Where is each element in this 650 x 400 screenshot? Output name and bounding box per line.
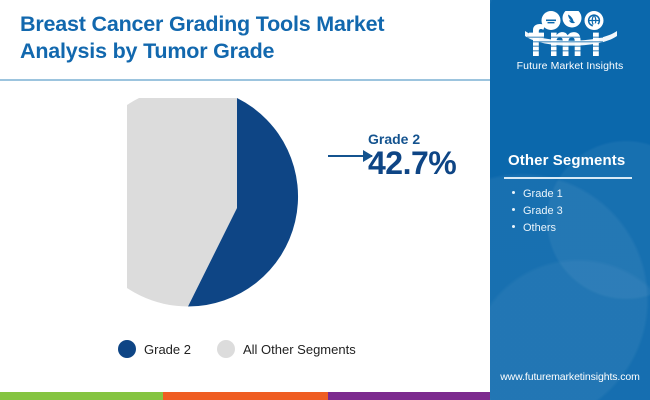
infographic-page: Future Market Insights Breast Cancer Gra… bbox=[0, 0, 650, 400]
bullet-icon bbox=[512, 208, 515, 211]
footer-color-strip bbox=[0, 392, 490, 400]
legend-item-all-other-segments[interactable]: All Other Segments bbox=[217, 340, 356, 358]
other-segments-heading: Other Segments bbox=[508, 152, 625, 169]
pie-chart-svg bbox=[127, 98, 347, 318]
list-item-label: Others bbox=[523, 220, 556, 237]
strip-segment-purple bbox=[328, 392, 490, 400]
logo-tagline: Future Market Insights bbox=[517, 60, 624, 72]
list-item: Grade 3 bbox=[512, 203, 563, 220]
legend-item-grade-2[interactable]: Grade 2 bbox=[118, 340, 191, 358]
legend-label: All Other Segments bbox=[243, 342, 356, 357]
fmi-logo: Future Market Insights bbox=[490, 2, 650, 80]
other-segments-divider bbox=[504, 177, 632, 179]
strip-segment-orange bbox=[163, 392, 328, 400]
page-title: Breast Cancer Grading Tools Market Analy… bbox=[20, 11, 470, 64]
legend-label: Grade 2 bbox=[144, 342, 191, 357]
list-item: Others bbox=[512, 220, 563, 237]
website-url[interactable]: www.futuremarketinsights.com bbox=[490, 371, 650, 383]
other-segments-list: Grade 1 Grade 3 Others bbox=[512, 186, 563, 237]
bullet-icon bbox=[512, 191, 515, 194]
header-divider bbox=[0, 79, 490, 81]
strip-segment-green bbox=[0, 392, 163, 400]
list-item: Grade 1 bbox=[512, 186, 563, 203]
fmi-logo-icon bbox=[507, 11, 633, 57]
legend-swatch-icon bbox=[118, 340, 136, 358]
pie-chart bbox=[127, 98, 347, 318]
legend-swatch-icon bbox=[217, 340, 235, 358]
callout-value: 42.7% bbox=[368, 145, 456, 182]
list-item-label: Grade 1 bbox=[523, 186, 563, 203]
bullet-icon bbox=[512, 225, 515, 228]
list-item-label: Grade 3 bbox=[523, 203, 563, 220]
chart-legend: Grade 2 All Other Segments bbox=[118, 340, 356, 358]
